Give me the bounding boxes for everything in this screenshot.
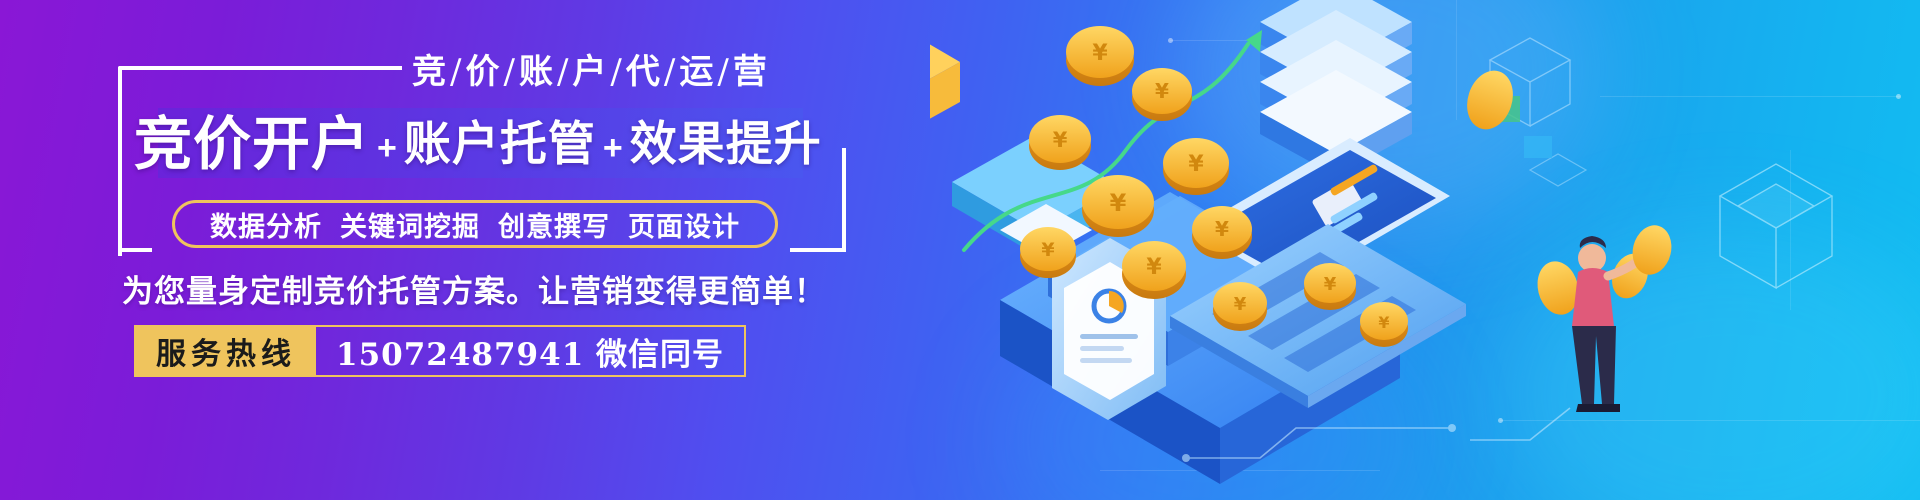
tech-illustration: ¥ ¥ ¥ ¥	[930, 0, 1920, 500]
tagline-separator: /	[607, 52, 625, 92]
decorative-bracket-bottom	[118, 248, 152, 252]
svg-text:¥: ¥	[1215, 217, 1229, 241]
svg-text:¥: ¥	[1378, 313, 1389, 332]
tagline-separator: /	[554, 52, 572, 92]
svg-text:¥: ¥	[1146, 255, 1162, 280]
person-figure	[1572, 221, 1676, 412]
hotline-label: 服务热线	[136, 327, 316, 375]
headline-part-2: 账户托管	[404, 121, 596, 168]
tagline-char: 营	[733, 52, 768, 92]
tagline-separator: /	[500, 52, 518, 92]
blue-block	[1524, 136, 1552, 158]
wireframe-small	[1530, 154, 1586, 186]
tagline: 竞/价/账/户/代/运/营	[412, 44, 768, 93]
trend-arrow	[1246, 30, 1262, 52]
subtitle: 为您量身定制竞价托管方案。让营销变得更简单！	[122, 266, 826, 311]
floating-coins	[1460, 65, 1655, 319]
tagline-char: 价	[465, 52, 500, 92]
service-item: 数据分析	[201, 212, 331, 243]
tagline-char: 竞	[412, 52, 447, 92]
hotline-bar: 服务热线 15072487941 微信同号	[134, 325, 746, 377]
tagline-char: 账	[519, 52, 554, 92]
svg-text:¥: ¥	[1041, 239, 1054, 261]
svg-text:¥: ¥	[1155, 79, 1169, 103]
service-item: 页面设计	[619, 212, 749, 243]
headline-part-3: 效果提升	[630, 121, 822, 168]
service-item: 创意撰写	[489, 212, 619, 243]
tagline-separator: /	[661, 52, 679, 92]
headline-part-1: 竞价开户	[134, 115, 370, 173]
headline: 竞价开户 + 账户托管 + 效果提升	[134, 106, 864, 182]
service-item: 关键词挖掘	[331, 212, 489, 243]
services-list: 数据分析关键词挖掘创意撰写页面设计	[201, 205, 749, 244]
tagline-char: 户	[572, 52, 607, 92]
svg-text:¥: ¥	[1053, 128, 1068, 152]
tagline-char: 代	[626, 52, 661, 92]
headline-plus-1: +	[370, 129, 404, 168]
headline-plus-2: +	[596, 129, 630, 168]
svg-text:¥: ¥	[1324, 274, 1337, 295]
promo-banner: 竞/价/账/户/代/运/营 竞价开户 + 账户托管 + 效果提升 数据分析关键词…	[0, 0, 1920, 500]
svg-text:¥: ¥	[1092, 41, 1108, 66]
wireframe-cube	[1720, 164, 1832, 288]
tagline-separator: /	[714, 52, 732, 92]
decorative-rule-right-bottom	[790, 248, 846, 252]
services-pill: 数据分析关键词挖掘创意撰写页面设计	[172, 200, 778, 248]
gold-bar	[930, 34, 960, 132]
svg-text:¥: ¥	[1234, 294, 1247, 315]
tagline-char: 运	[679, 52, 714, 92]
banner-content: 竞/价/账/户/代/运/营 竞价开户 + 账户托管 + 效果提升 数据分析关键词…	[0, 0, 960, 500]
svg-text:¥: ¥	[1110, 189, 1127, 217]
svg-text:¥: ¥	[1188, 152, 1204, 177]
decorative-rule-top	[152, 66, 402, 70]
tagline-separator: /	[447, 52, 465, 92]
hotline-number[interactable]: 15072487941 微信同号	[316, 327, 744, 375]
